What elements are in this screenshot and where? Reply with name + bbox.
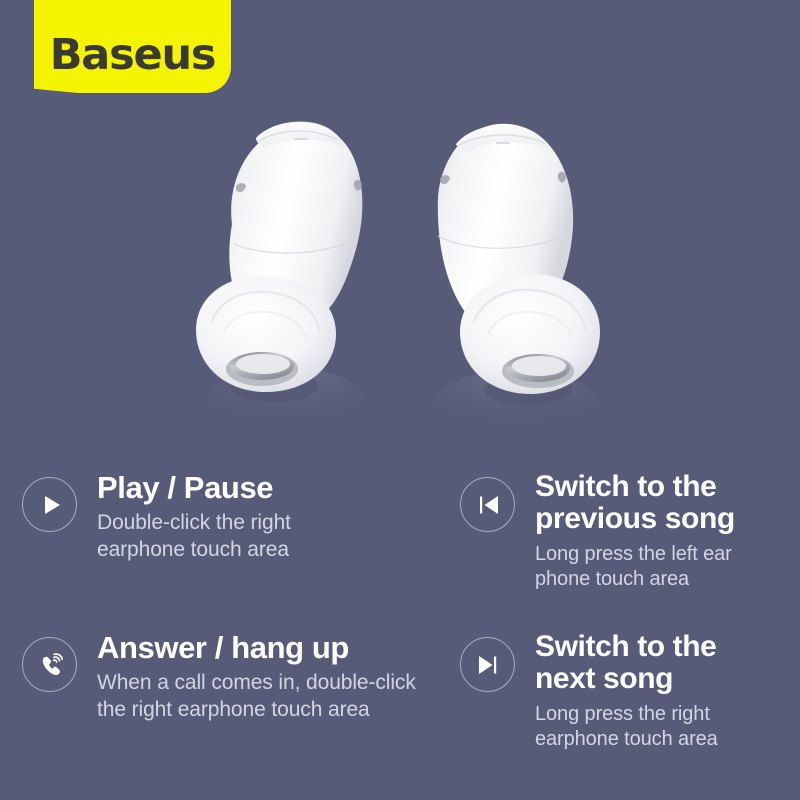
product-infographic: Baseus bbox=[0, 0, 800, 800]
earbud-right bbox=[398, 86, 628, 456]
feature-list: Play / Pause Double-click the right earp… bbox=[0, 455, 800, 800]
brand-logo: Baseus bbox=[34, 0, 231, 93]
feature-text: Play / Pause Double-click the right earp… bbox=[97, 471, 291, 564]
feature-subtitle: Long press the left ear phone touch area bbox=[535, 542, 735, 593]
previous-track-icon bbox=[460, 477, 515, 532]
next-track-icon bbox=[460, 637, 515, 692]
feature-subtitle: Double-click the right earphone touch ar… bbox=[97, 510, 291, 564]
feature-next-song: Switch to the next song Long press the r… bbox=[460, 631, 790, 753]
feature-subtitle: When a call comes in, double-click the r… bbox=[97, 670, 416, 724]
feature-title: Switch to the previous song bbox=[535, 471, 735, 536]
brand-logo-text: Baseus bbox=[50, 34, 216, 77]
feature-title: Play / Pause bbox=[97, 471, 291, 504]
feature-previous-song: Switch to the previous song Long press t… bbox=[460, 471, 790, 593]
feature-text: Switch to the next song Long press the r… bbox=[535, 631, 718, 753]
earbud-left-illustration bbox=[178, 86, 408, 456]
product-hero-image bbox=[0, 86, 800, 456]
earbud-left bbox=[178, 86, 408, 456]
feature-title: Switch to the next song bbox=[535, 631, 718, 696]
earbud-right-illustration bbox=[398, 86, 628, 456]
feature-answer-hangup: Answer / hang up When a call comes in, d… bbox=[22, 631, 452, 724]
feature-text: Answer / hang up When a call comes in, d… bbox=[97, 631, 416, 724]
feature-subtitle: Long press the right earphone touch area bbox=[535, 702, 718, 753]
feature-text: Switch to the previous song Long press t… bbox=[535, 471, 735, 593]
play-icon bbox=[22, 477, 77, 532]
feature-title: Answer / hang up bbox=[97, 631, 416, 664]
feature-play-pause: Play / Pause Double-click the right earp… bbox=[22, 471, 422, 564]
phone-ringing-icon bbox=[22, 637, 77, 692]
